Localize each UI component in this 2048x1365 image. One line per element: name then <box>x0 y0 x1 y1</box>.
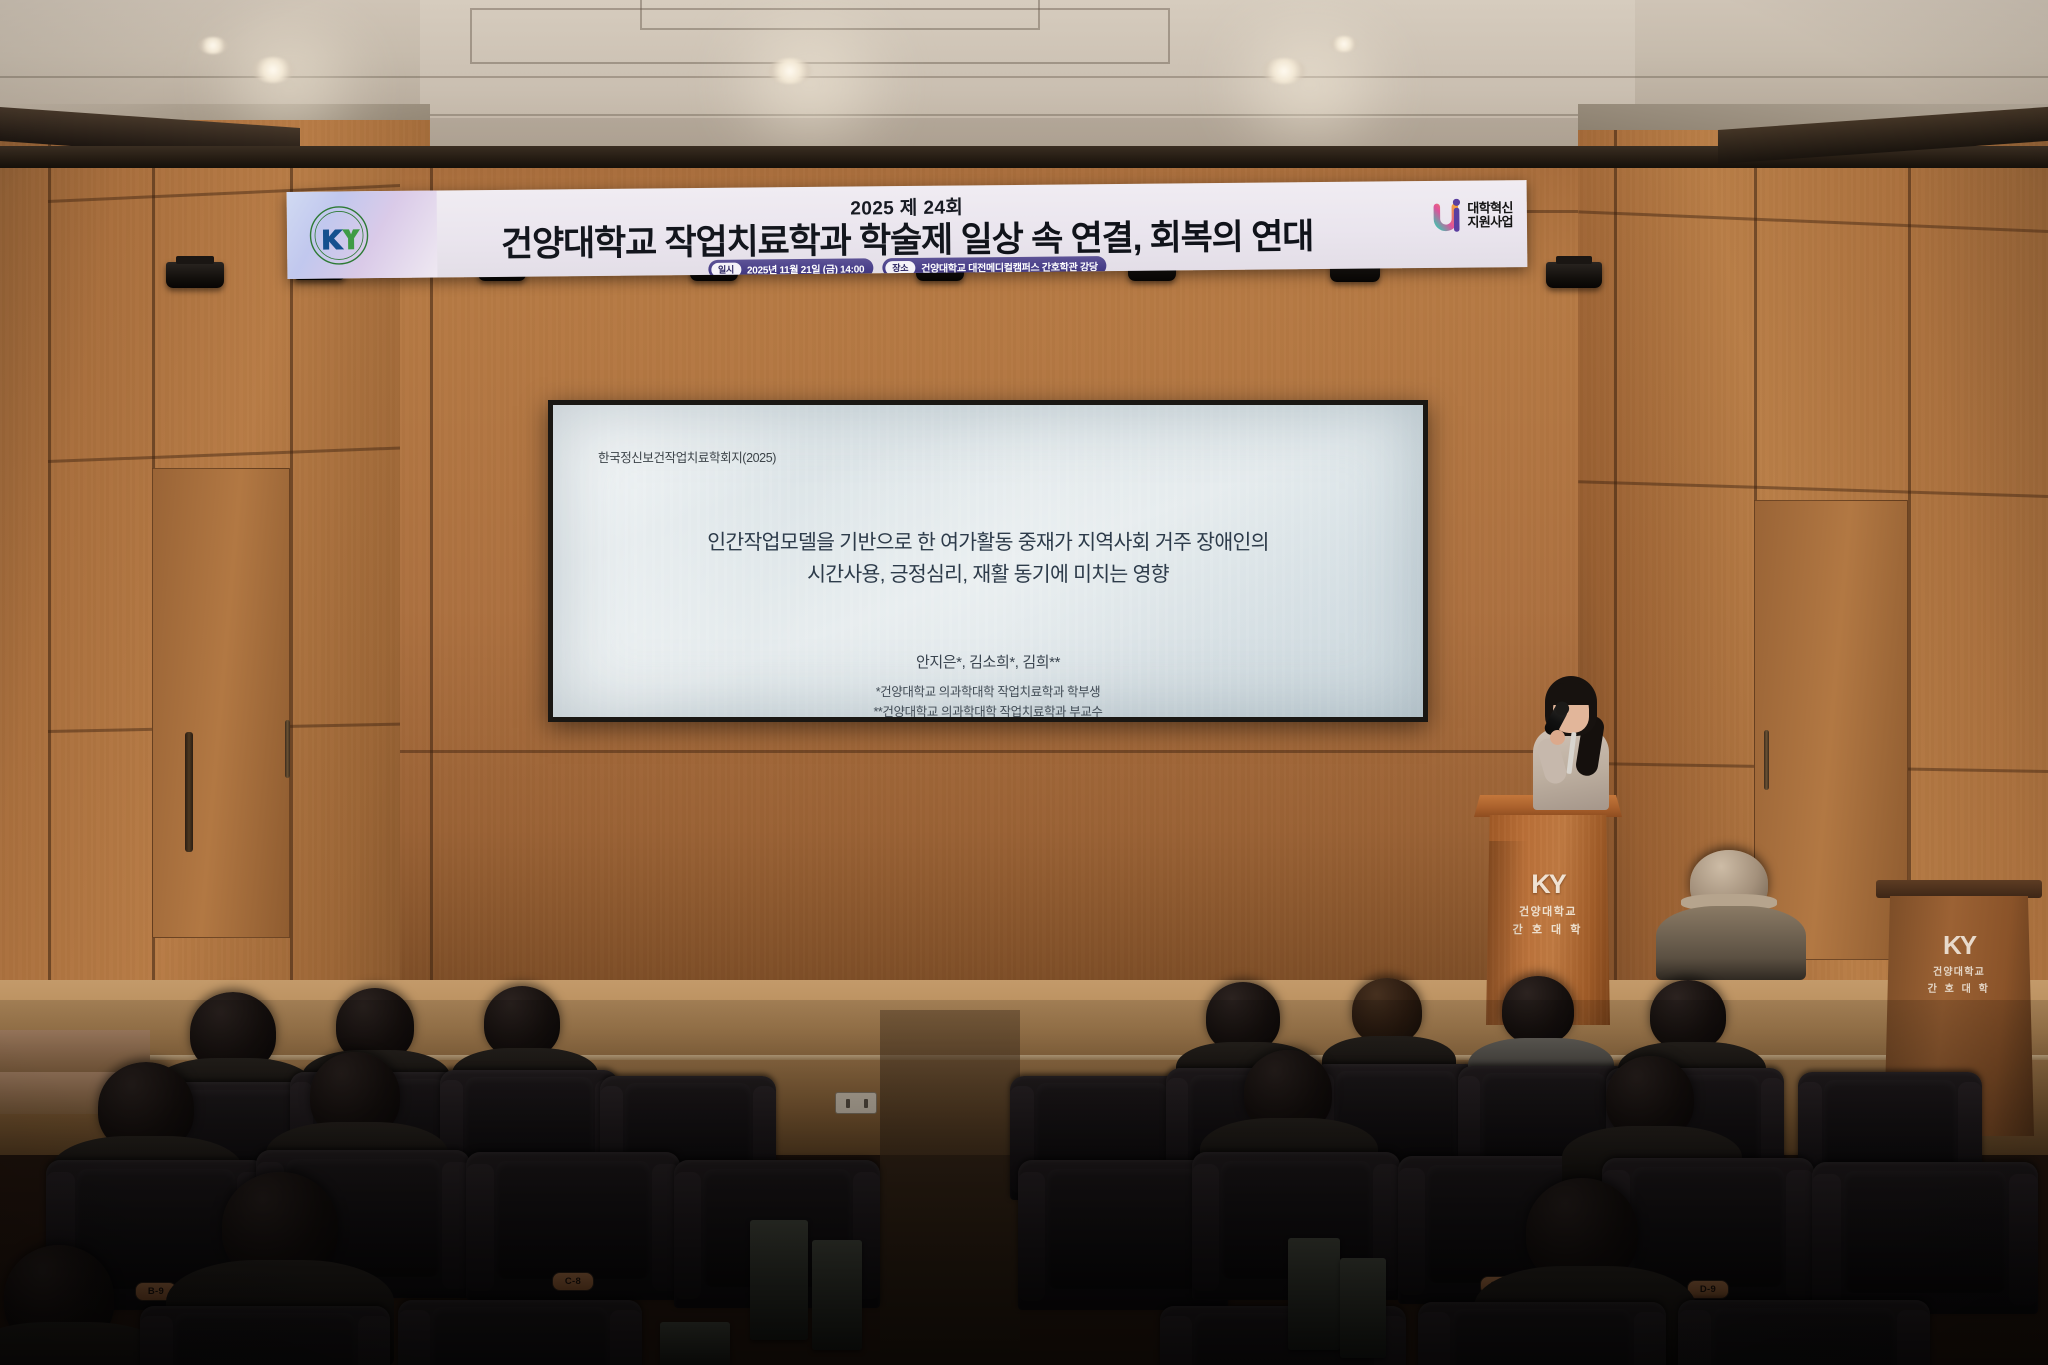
seat[interactable] <box>1812 1162 2038 1314</box>
audience-head <box>1352 978 1422 1044</box>
seat-desk <box>750 1220 808 1340</box>
seat-wing-left <box>674 1172 701 1299</box>
seat[interactable] <box>140 1306 390 1365</box>
banner-title-theme: 일상 속 연결, 회복의 연대 <box>960 217 1313 259</box>
wall-seam-left-3 <box>290 150 293 1020</box>
presenter-hand <box>1550 730 1565 745</box>
seat-wing-left <box>1398 1168 1425 1295</box>
university-innovation-support-logo: 대학혁신 지원사업 <box>1432 198 1513 233</box>
audience-shoulders <box>1656 906 1806 980</box>
audience-head <box>1650 980 1726 1050</box>
downlight-1 <box>252 57 294 83</box>
slide-affiliation-2: **건양대학교 의과학대학 작업치료학과 부교수 <box>553 701 1423 717</box>
downlight-3 <box>1262 58 1306 84</box>
seat-pad <box>1047 1169 1198 1289</box>
ceiling-glow-mid <box>700 18 920 148</box>
seat-wing-right <box>358 1316 391 1365</box>
seat-label: C-8 <box>552 1272 594 1291</box>
lectern-secondary-line1: 건양대학교 <box>1884 963 2034 978</box>
lectern-secondary-line2: 간 호 대 학 <box>1884 980 2034 995</box>
seat-pad <box>175 1313 355 1365</box>
slide-affiliation-1: *건양대학교 의과학대학 작업치료학과 학부생 <box>553 681 1423 700</box>
slide-title-line2: 시간사용, 긍정심리, 재활 동기에 미치는 영향 <box>593 559 1383 591</box>
door-handle-left-2[interactable] <box>185 732 193 852</box>
uiv-text: 대학혁신 지원사업 <box>1467 202 1513 230</box>
slide-title-line1: 인간작업모델을 기반으로 한 여가활동 중재가 지역사회 거주 장애인의 <box>593 527 1383 559</box>
ceiling-glow-right <box>1200 20 1420 150</box>
seat-pad <box>1713 1308 1894 1365</box>
seat-wing-left <box>1192 1164 1219 1291</box>
uiv-glyph-icon <box>1432 199 1462 233</box>
seat-wing-left <box>1160 1316 1192 1365</box>
audience-head <box>1502 976 1574 1044</box>
seat-desk <box>1288 1238 1340 1350</box>
wall-seam-right-3 <box>1908 130 1911 1010</box>
projection-screen: 한국정신보건작업치료학회지(2025) 인간작업모델을 기반으로 한 여가활동 … <box>553 405 1423 717</box>
wall-seam-left-1 <box>48 120 51 1020</box>
seat-pad <box>432 1307 608 1365</box>
seat[interactable] <box>398 1300 642 1365</box>
auditorium-scene: 2025 제 24회 건양대학교 작업치료학과 학술제 일상 속 연결, 회복의… <box>0 0 2048 1365</box>
seat-pad <box>496 1161 650 1279</box>
seat-wing-left <box>466 1164 494 1291</box>
wall-right <box>1578 130 2048 1010</box>
slide-authors: 안지은*, 김소희*, 김희** <box>553 651 1423 672</box>
lectern-secondary-mark: KY <box>1884 932 2034 958</box>
seat[interactable] <box>1678 1300 1930 1365</box>
seat-wing-left <box>1418 1312 1450 1365</box>
projection-screen-frame: 한국정신보건작업치료학회지(2025) 인간작업모델을 기반으로 한 여가활동 … <box>548 400 1428 722</box>
audience-seating: B-6 B-9 B-9 <box>0 1010 2048 1365</box>
ceiling-speaker-1 <box>166 262 224 288</box>
lectern-secondary-logo: KY 건양대학교 간 호 대 학 <box>1884 932 2034 995</box>
seat-wing-left <box>1678 1310 1711 1365</box>
downlight-5 <box>1330 36 1358 52</box>
seat-wing-right <box>1897 1310 1930 1365</box>
seat-wing-right <box>2009 1174 2038 1305</box>
banner-date-tag: 일시 <box>711 262 741 276</box>
slide-title: 인간작업모델을 기반으로 한 여가활동 중재가 지역사회 거주 장애인의 시간사… <box>553 527 1423 591</box>
door-handle-left[interactable] <box>285 720 290 778</box>
wall-seam-right-1 <box>1614 130 1617 1010</box>
door-left[interactable] <box>152 468 290 938</box>
presenter-bangs <box>1547 683 1595 705</box>
slide-journal-label: 한국정신보건작업치료학회지(2025) <box>598 447 776 466</box>
seat-wing-left <box>1812 1174 1841 1305</box>
seat-wing-left <box>1018 1172 1045 1301</box>
seat-wing-left <box>398 1310 430 1365</box>
seat-desk <box>812 1240 862 1350</box>
event-banner: 2025 제 24회 건양대학교 작업치료학과 학술제 일상 속 연결, 회복의… <box>287 180 1528 279</box>
seat-pad <box>1844 1171 2007 1293</box>
seat-pad <box>1453 1309 1632 1365</box>
seat-desk <box>1340 1258 1386 1358</box>
seat-pad <box>1632 1167 1785 1287</box>
seat-wing-right <box>1786 1170 1814 1299</box>
wall-seam-back-h2 <box>400 750 1660 753</box>
seat-wing-right <box>1634 1312 1666 1365</box>
lectern-secondary-top <box>1876 880 2042 898</box>
downlight-2 <box>768 58 812 84</box>
banner-place-tag: 장소 <box>885 260 915 274</box>
seat-wing-left <box>140 1316 173 1365</box>
presenter-person <box>1523 676 1615 806</box>
seat-desk <box>660 1322 730 1365</box>
door-handle-right[interactable] <box>1764 730 1769 790</box>
seat[interactable]: D-9 <box>1418 1302 1666 1365</box>
downlight-4 <box>198 37 228 54</box>
uiv-line2: 지원사업 <box>1467 215 1513 229</box>
seat[interactable]: C-8 <box>466 1152 680 1300</box>
seat-wing-right <box>610 1310 642 1365</box>
ceiling-speaker-8 <box>1546 262 1602 288</box>
